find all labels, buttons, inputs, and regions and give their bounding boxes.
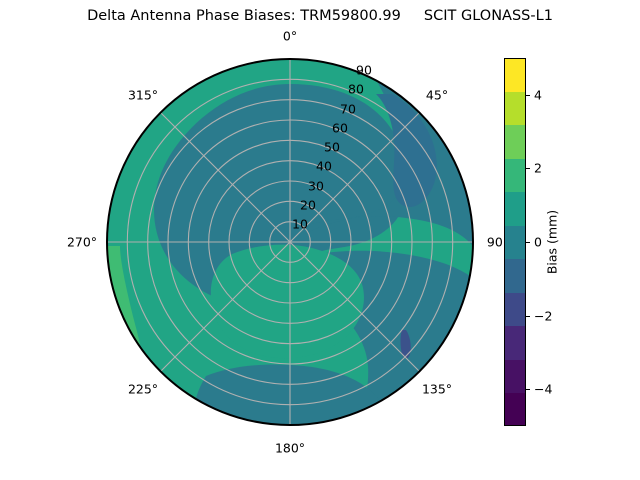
colorbar-ticklabel-m2: −2 bbox=[534, 308, 552, 323]
colorbar-tick-4 bbox=[526, 95, 530, 96]
colorbar-axis-label: Bias (mm) bbox=[545, 210, 560, 274]
polar-grid-spokes bbox=[107, 59, 473, 425]
colorbar-ticklabel-4: 4 bbox=[534, 87, 542, 102]
colorbar-band-10 bbox=[504, 58, 526, 92]
r-tick-30: 30 bbox=[308, 179, 324, 194]
theta-tick-315: 315° bbox=[128, 88, 158, 103]
colorbar-ticklabel-2: 2 bbox=[534, 161, 542, 176]
theta-tick-225: 225° bbox=[128, 382, 158, 397]
r-tick-50: 50 bbox=[324, 140, 340, 155]
r-tick-40: 40 bbox=[316, 159, 332, 174]
colorbar-band-9 bbox=[504, 92, 526, 126]
colorbar-ticklabel-m4: −4 bbox=[534, 382, 552, 397]
colorbar-band-3 bbox=[504, 293, 526, 327]
r-tick-10: 10 bbox=[292, 217, 308, 232]
theta-tick-135: 135° bbox=[422, 382, 452, 397]
colorbar-band-6 bbox=[504, 192, 526, 226]
polar-plot-svg bbox=[106, 58, 474, 426]
colorbar-band-8 bbox=[504, 125, 526, 159]
colorbar-band-1 bbox=[504, 360, 526, 394]
r-tick-60: 60 bbox=[332, 121, 348, 136]
polar-axes[interactable]: 0° 45° 90° 135° 180° 225° 270° 315° 10 2… bbox=[106, 58, 474, 426]
colorbar-band-4 bbox=[504, 259, 526, 293]
colorbar-band-0 bbox=[504, 393, 526, 426]
r-tick-20: 20 bbox=[300, 198, 316, 213]
r-tick-90: 90 bbox=[356, 63, 372, 78]
colorbar-band-5 bbox=[504, 226, 526, 260]
colorbar-ticklabel-0: 0 bbox=[534, 235, 542, 250]
theta-tick-180: 180° bbox=[275, 441, 305, 456]
figure-canvas: Delta Antenna Phase Biases: TRM59800.99 … bbox=[0, 0, 640, 480]
page-title: Delta Antenna Phase Biases: TRM59800.99 … bbox=[0, 8, 640, 24]
colorbar[interactable]: 4 2 0 −2 −4 bbox=[504, 58, 526, 426]
colorbar-tick-2 bbox=[526, 168, 530, 169]
r-tick-80: 80 bbox=[348, 82, 364, 97]
colorbar-band-2 bbox=[504, 326, 526, 360]
colorbar-tick-m2 bbox=[526, 316, 530, 317]
colorbar-tick-0 bbox=[526, 242, 530, 243]
theta-tick-0: 0° bbox=[283, 29, 297, 44]
colorbar-tick-m4 bbox=[526, 389, 530, 390]
r-tick-70: 70 bbox=[340, 102, 356, 117]
colorbar-band-7 bbox=[504, 159, 526, 193]
theta-tick-270: 270° bbox=[67, 235, 97, 250]
theta-tick-45: 45° bbox=[426, 88, 448, 103]
